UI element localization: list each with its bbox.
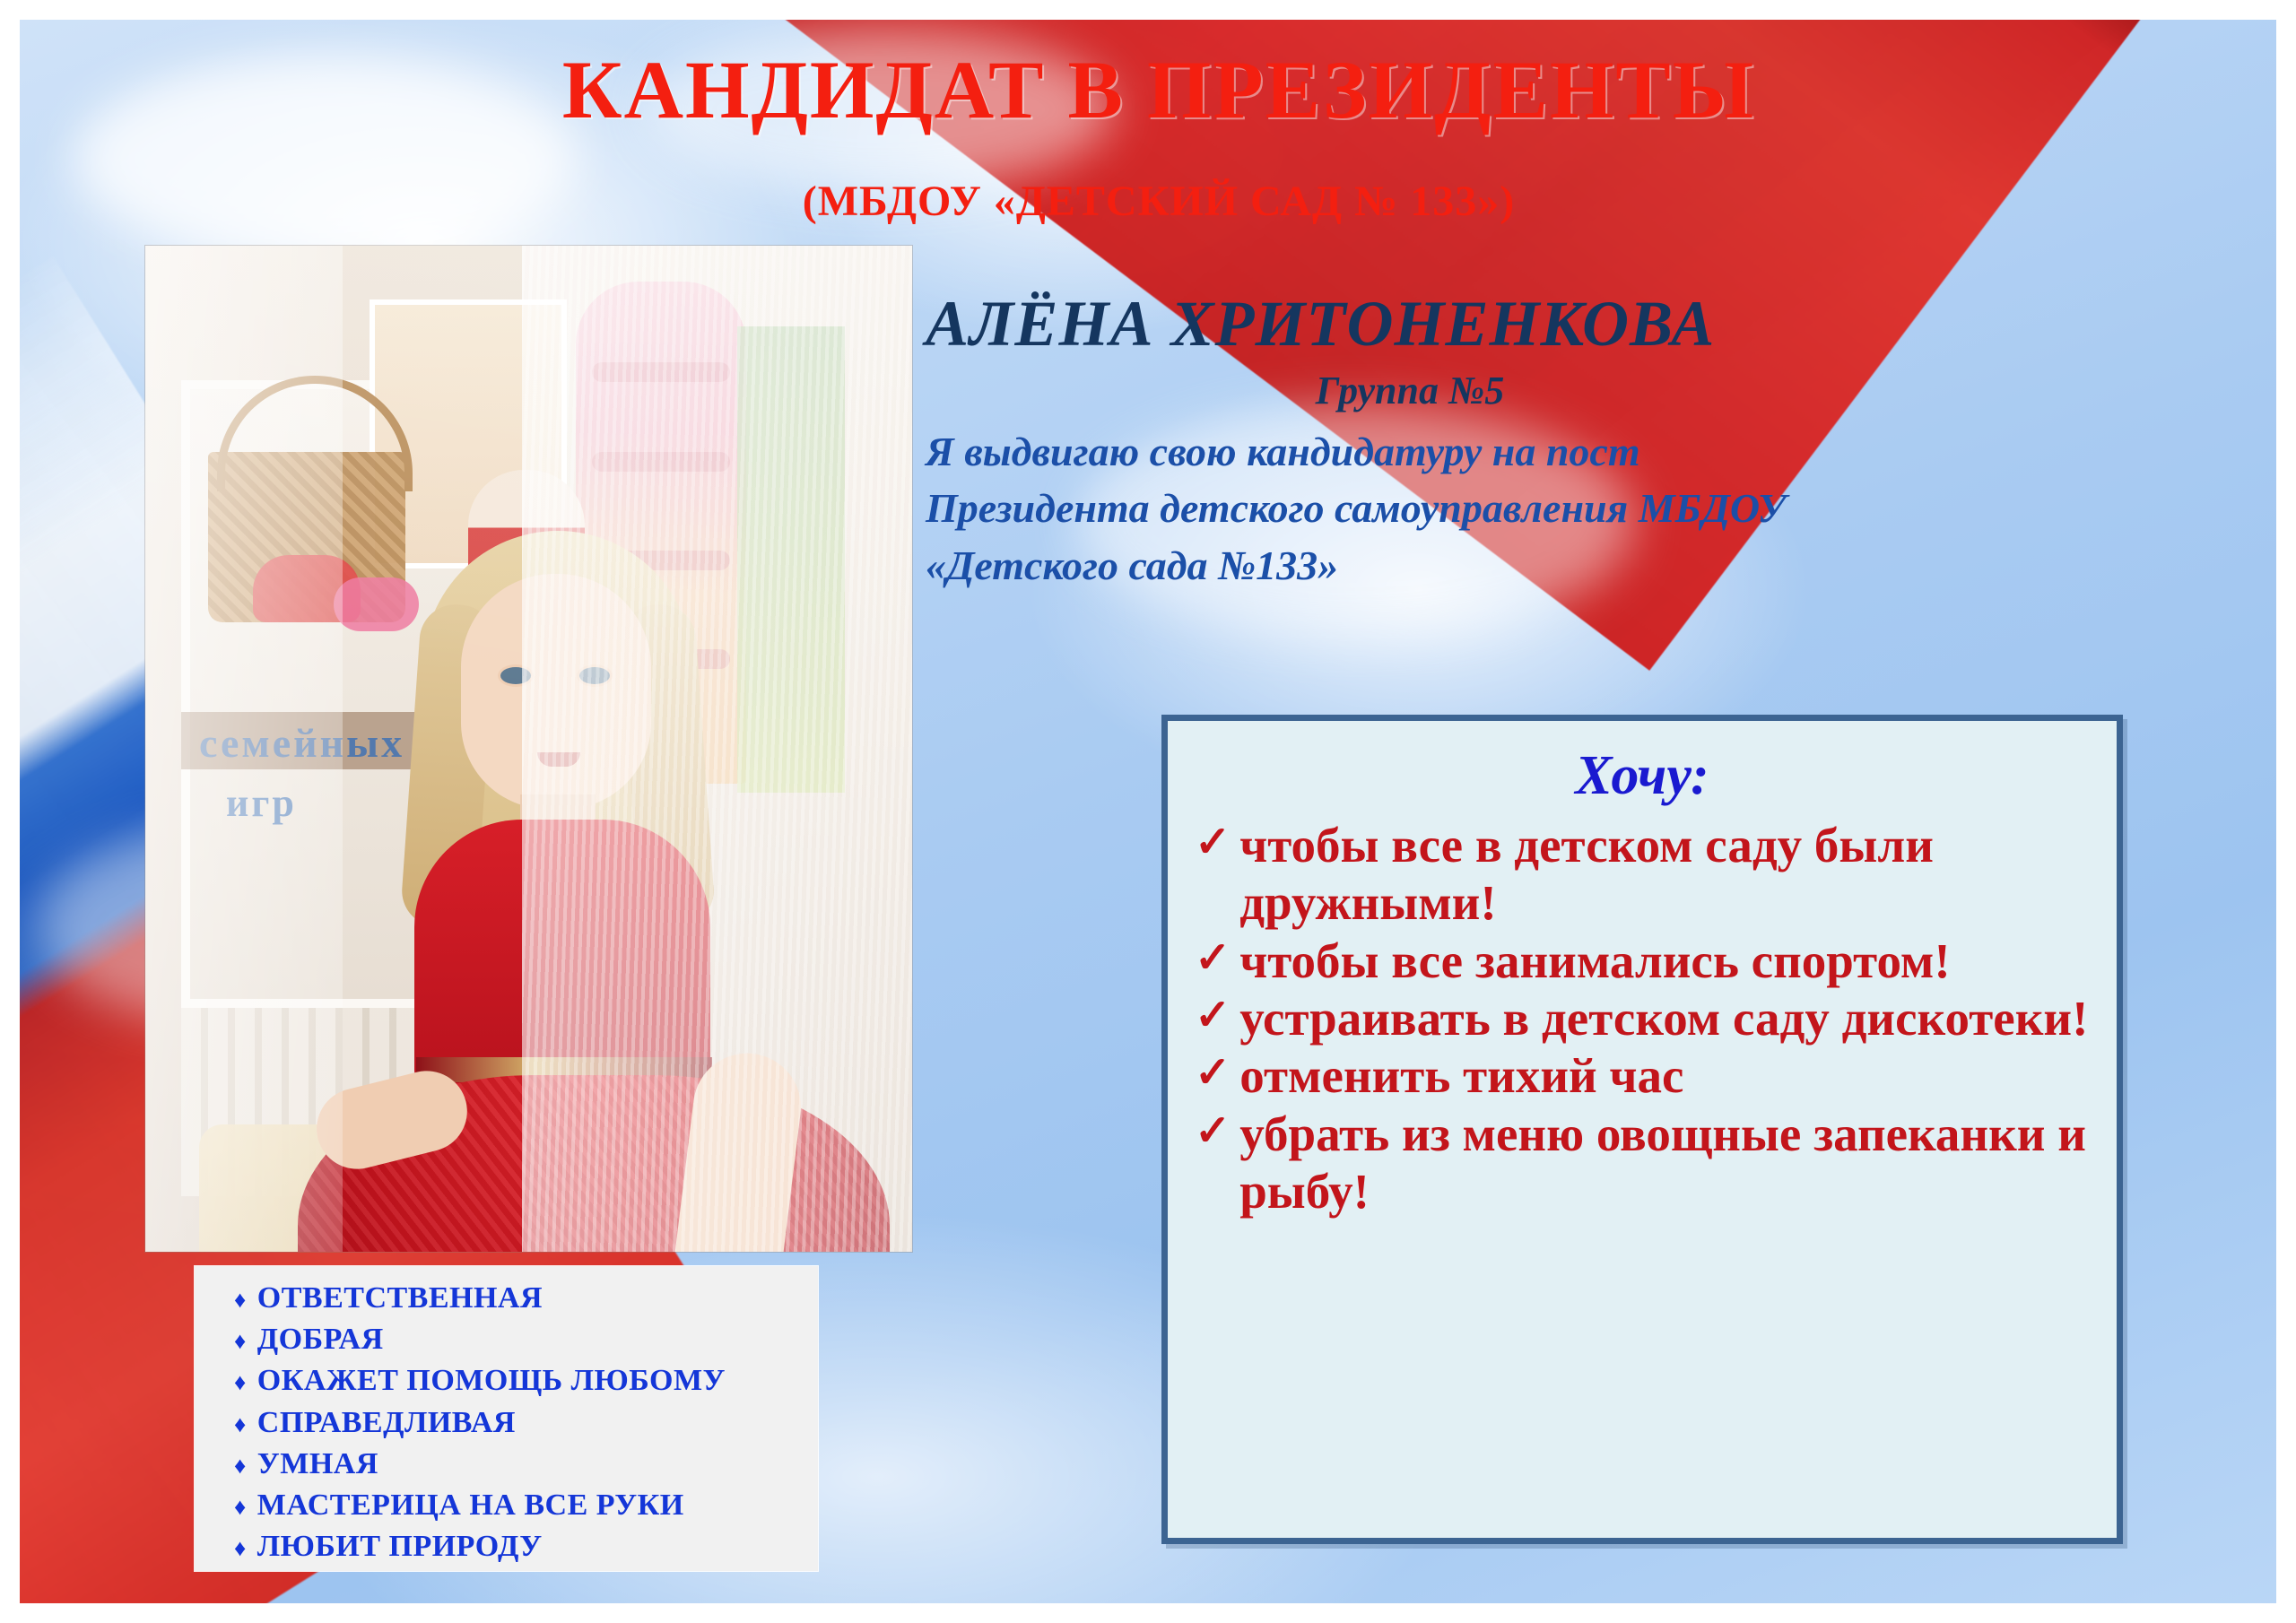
poster-canvas: КАНДИДАТ В ПРЕЗИДЕНТЫ (МБДОУ «ДЕТСКИЙ СА… <box>0 0 2296 1623</box>
diamond-bullet-icon: ♦ <box>234 1410 247 1439</box>
cloud-decoration <box>74 56 576 262</box>
check-icon: ✓ <box>1195 933 1231 985</box>
diamond-bullet-icon: ♦ <box>234 1367 247 1397</box>
page-title: КАНДИДАТ В ПРЕЗИДЕНТЫ <box>522 47 1796 134</box>
quality-item: ♦ УМНАЯ <box>195 1445 818 1483</box>
quality-item: ♦ СПРАВЕДЛИВАЯ <box>195 1403 818 1442</box>
candidate-group: Группа №5 <box>926 368 1894 413</box>
wish-item-label: чтобы все занимались спортом! <box>1239 933 2093 990</box>
pitch-line: «Детского сада №133» <box>926 537 1984 594</box>
wish-item: ✓ отменить тихий час <box>1168 1047 2117 1105</box>
wish-item: ✓ убрать из меню овощные запеканки и рыб… <box>1168 1106 2117 1221</box>
wish-item: ✓ чтобы все в детском саду были дружными… <box>1168 817 2117 933</box>
candidate-pitch: Я выдвигаю свою кандидатуру на пост През… <box>926 423 1984 594</box>
girl-face <box>461 574 651 809</box>
toy-ring <box>592 452 730 472</box>
quality-label: МАСТЕРИЦА НА ВСЕ РУКИ <box>257 1486 684 1524</box>
diamond-bullet-icon: ♦ <box>234 1533 247 1563</box>
diamond-bullet-icon: ♦ <box>234 1492 247 1522</box>
quality-item: ♦ ОТВЕТСТВЕННАЯ <box>195 1279 818 1317</box>
wish-item-label: устраивать в детском саду дискотеки! <box>1239 990 2093 1047</box>
wish-item-label: чтобы все в детском саду были дружными! <box>1239 817 2093 933</box>
candidate-name: АЛЁНА ХРИТОНЕНКОВА <box>926 287 2092 361</box>
quality-label: УМНАЯ <box>257 1445 378 1483</box>
photo-toy-pink <box>334 577 419 631</box>
check-icon: ✓ <box>1195 817 1231 870</box>
pitch-line: Президента детского самоуправления МБДОУ <box>926 480 1984 536</box>
check-icon: ✓ <box>1195 990 1231 1043</box>
candidate-photo: семейных игр <box>145 246 912 1252</box>
pitch-line: Я выдвигаю свою кандидатуру на пост <box>926 423 1984 480</box>
quality-item: ♦ ЛЮБИТ ПРИРОДУ <box>195 1527 818 1566</box>
diamond-bullet-icon: ♦ <box>234 1451 247 1480</box>
girl-eye-left <box>500 667 531 684</box>
qualities-box: ♦ ОТВЕТСТВЕННАЯ ♦ ДОБРАЯ ♦ ОКАЖЕТ ПОМОЩЬ… <box>195 1266 818 1571</box>
photo-green-panel <box>737 326 845 793</box>
quality-item: ♦ ОКАЖЕТ ПОМОЩЬ ЛЮБОМУ <box>195 1361 818 1400</box>
wish-item-label: отменить тихий час <box>1239 1047 2093 1105</box>
wishes-box: Хочу: ✓ чтобы все в детском саду были др… <box>1161 715 2123 1544</box>
check-icon: ✓ <box>1195 1047 1231 1100</box>
quality-item: ♦ ДОБРАЯ <box>195 1320 818 1358</box>
quality-label: СПРАВЕДЛИВАЯ <box>257 1403 516 1442</box>
girl-eye-right <box>579 667 610 684</box>
wish-item: ✓ чтобы все занимались спортом! <box>1168 933 2117 990</box>
quality-label: ДОБРАЯ <box>257 1320 384 1358</box>
page-subtitle: (МБДОУ «ДЕТСКИЙ САД № 133») <box>522 177 1796 226</box>
toy-ring <box>592 362 730 382</box>
diamond-bullet-icon: ♦ <box>234 1326 247 1356</box>
quality-label: ОКАЖЕТ ПОМОЩЬ ЛЮБОМУ <box>257 1361 726 1400</box>
wishes-heading: Хочу: <box>1168 744 2117 808</box>
poster-page: КАНДИДАТ В ПРЕЗИДЕНТЫ (МБДОУ «ДЕТСКИЙ СА… <box>20 20 2276 1603</box>
diamond-bullet-icon: ♦ <box>234 1285 247 1315</box>
check-icon: ✓ <box>1195 1106 1231 1159</box>
wish-item-label: убрать из меню овощные запеканки и рыбу! <box>1239 1106 2093 1221</box>
quality-label: ОТВЕТСТВЕННАЯ <box>257 1279 543 1317</box>
quality-item: ♦ МАСТЕРИЦА НА ВСЕ РУКИ <box>195 1486 818 1524</box>
quality-label: ЛЮБИТ ПРИРОДУ <box>257 1527 543 1566</box>
girl-dress-bodice <box>414 820 710 1089</box>
wish-item: ✓ устраивать в детском саду дискотеки! <box>1168 990 2117 1047</box>
